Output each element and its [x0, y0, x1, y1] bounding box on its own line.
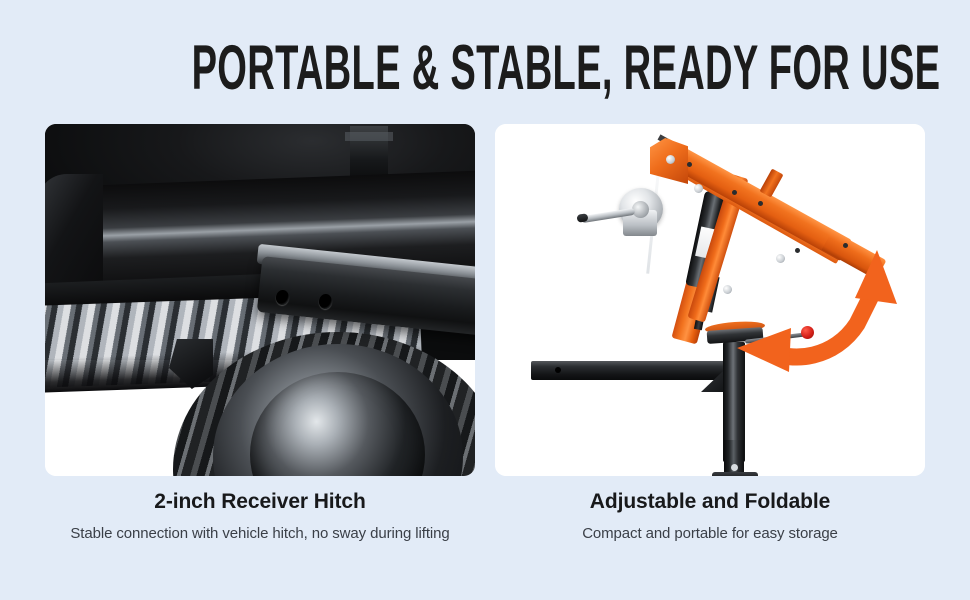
frame-bolt — [732, 190, 737, 195]
crane-boom-extension — [822, 230, 887, 279]
feature-subtitle: Compact and portable for easy storage — [495, 524, 925, 543]
caption-receiver-hitch: 2-inch Receiver Hitch Stable connection … — [45, 489, 475, 543]
foot-plate-bolt — [731, 464, 738, 471]
crane-hitch-bar — [531, 361, 731, 380]
truck-upper-tab-trim — [345, 132, 393, 141]
winch-hub — [632, 201, 649, 218]
frame-bolt — [758, 201, 763, 206]
boom-collar-band — [760, 168, 784, 197]
frame-bolt — [795, 248, 800, 253]
pivot-pin — [723, 285, 732, 294]
feature-subtitle: Stable connection with vehicle hitch, no… — [45, 524, 475, 543]
feature-panel: PORTABLE & STABLE, READY FOR USE 2-inch … — [0, 0, 970, 600]
frame-bolt — [843, 243, 848, 248]
page-title: PORTABLE & STABLE, READY FOR USE — [192, 38, 779, 98]
hitch-bar-pin-hole — [555, 367, 561, 373]
pivot-pin — [776, 254, 785, 263]
base-foot-plate — [712, 472, 758, 476]
pivot-pin — [666, 155, 675, 164]
feature-card-receiver-hitch[interactable] — [45, 124, 475, 476]
orange-crane-photo — [495, 124, 925, 476]
pivot-pin — [694, 184, 703, 193]
feature-title: Adjustable and Foldable — [495, 489, 925, 514]
locking-pin-knob — [801, 326, 814, 339]
frame-bolt — [687, 162, 692, 167]
caption-adjustable-foldable: Adjustable and Foldable Compact and port… — [495, 489, 925, 543]
feature-title: 2-inch Receiver Hitch — [45, 489, 475, 514]
feature-card-adjustable-foldable[interactable] — [495, 124, 925, 476]
truck-hitch-photo — [45, 124, 475, 476]
